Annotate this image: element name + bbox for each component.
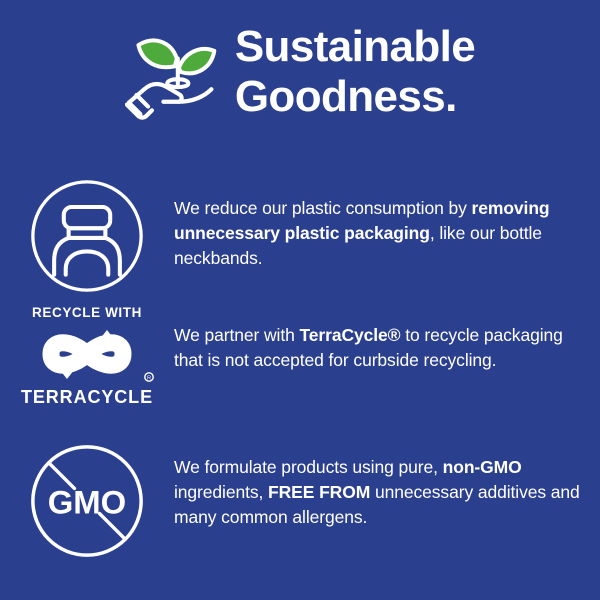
benefit-text-part: We reduce our plastic consumption by xyxy=(174,198,472,218)
terracycle-top-label: RECYCLE WITH xyxy=(32,305,142,320)
page-title-line2: Goodness. xyxy=(235,72,475,122)
benefit-row-gmo: GMO We formulate products using pure, no… xyxy=(0,443,600,564)
benefit-text-part: We partner with xyxy=(174,325,300,345)
benefit-text-part: We formulate products using pure, xyxy=(174,457,443,477)
benefit-icon-container xyxy=(0,178,174,299)
benefit-text-terracycle: We partner with TerraCycle® to recycle p… xyxy=(174,305,600,373)
no-gmo-icon: GMO xyxy=(29,443,145,564)
sustainable-goodness-graphic: Sustainable Goodness. xyxy=(0,0,600,600)
terracycle-bottom-label: TERRACYCLE xyxy=(21,387,153,408)
benefit-text-part-bold: FREE FROM xyxy=(268,482,370,502)
benefit-row-terracycle: RECYCLE WITH R TERRACYCLE xyxy=(0,305,600,408)
benefit-row-plastic: We reduce our plastic consumption by rem… xyxy=(0,178,600,299)
page-title: Sustainable Goodness. xyxy=(235,22,475,121)
benefit-icon-container: GMO xyxy=(0,443,174,564)
benefit-text-plastic: We reduce our plastic consumption by rem… xyxy=(174,178,600,271)
benefit-icon-container: RECYCLE WITH R TERRACYCLE xyxy=(0,305,174,408)
benefit-text-part: ingredients, xyxy=(174,482,268,502)
benefit-text-part-bold: non-GMO xyxy=(443,457,522,477)
terracycle-logo: RECYCLE WITH R TERRACYCLE xyxy=(17,305,157,408)
svg-text:R: R xyxy=(147,376,151,382)
benefit-text-part-bold: TerraCycle® xyxy=(300,325,401,345)
page-title-line1: Sustainable xyxy=(235,22,475,71)
no-gmo-icon-label: GMO xyxy=(48,484,127,521)
header: Sustainable Goodness. xyxy=(0,22,600,122)
hand-holding-plant-icon xyxy=(125,22,221,122)
bottle-no-neckband-icon xyxy=(29,178,145,299)
benefit-text-gmo: We formulate products using pure, non-GM… xyxy=(174,443,600,530)
terracycle-infinity-icon: R xyxy=(17,323,157,385)
